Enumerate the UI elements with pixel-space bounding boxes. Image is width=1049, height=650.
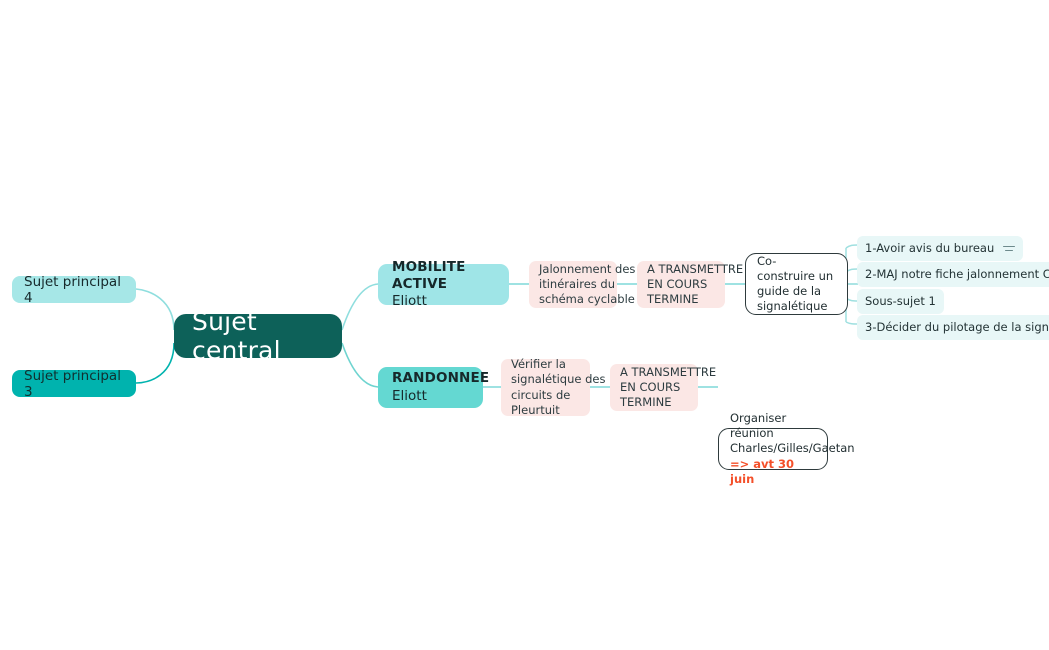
edge-central-to-randonnee: [342, 343, 378, 387]
status-note-randonnee[interactable]: A TRANSMETTRE EN COURS TERMINE: [610, 364, 698, 411]
branch-owner: Eliott: [392, 388, 469, 405]
central-node[interactable]: Sujet central: [174, 314, 342, 358]
subtopic-label: Sous-sujet 1: [865, 294, 936, 308]
task-note-verifier-signaletique[interactable]: Vérifier la signalétique des circuits de…: [501, 359, 590, 416]
edge-central-to-mobilite: [342, 284, 378, 330]
subtopic-chip-4[interactable]: 3-Décider du pilotage de la signa infra: [857, 315, 1049, 340]
task-line: signalétique des: [511, 372, 580, 387]
task-line: Jalonnement des: [539, 262, 607, 277]
action-line: guide de la: [757, 284, 836, 299]
status-note-mobilite[interactable]: A TRANSMETTRE EN COURS TERMINE: [637, 261, 725, 308]
notes-icon: [1003, 246, 1015, 251]
action-line: construire un: [757, 269, 836, 284]
status-line: A TRANSMETTRE: [647, 262, 715, 277]
action-line: signalétique: [757, 299, 836, 314]
mindmap-canvas: Sujet central Sujet principal 4 Sujet pr…: [0, 0, 1049, 650]
subtopic-label: 2-MAJ notre fiche jalonnement CCCE: [865, 267, 1049, 281]
status-line: EN COURS: [647, 277, 715, 292]
action-note-co-construire[interactable]: Co- construire un guide de la signalétiq…: [745, 253, 848, 315]
subtopic-label: 1-Avoir avis du bureau: [865, 241, 994, 255]
main-topic-label: Sujet principal 3: [24, 368, 124, 400]
main-topic-sujet-principal-3[interactable]: Sujet principal 3: [12, 370, 136, 397]
branch-head-mobilite-active[interactable]: MOBILITE ACTIVE Eliott: [378, 264, 509, 305]
subtopic-label: 3-Décider du pilotage de la signa infra: [865, 320, 1049, 334]
branch-title: RANDONNEE: [392, 370, 469, 387]
main-topic-sujet-principal-4[interactable]: Sujet principal 4: [12, 276, 136, 303]
branch-owner: Eliott: [392, 293, 495, 310]
task-line: Vérifier la: [511, 357, 580, 372]
task-line: circuits de: [511, 388, 580, 403]
status-line: A TRANSMETTRE: [620, 365, 688, 380]
status-line: EN COURS: [620, 380, 688, 395]
task-line: schéma cyclable: [539, 292, 607, 307]
action-line: Organiser réunion: [730, 411, 816, 441]
deadline-label: => avt 30 juin: [730, 457, 816, 487]
task-note-jalonnement[interactable]: Jalonnement des itinéraires du schéma cy…: [529, 261, 617, 308]
edge-central-to-topic4: [136, 289, 174, 330]
action-line: Charles/Gilles/Gaetan: [730, 441, 816, 456]
subtopic-chip-3[interactable]: Sous-sujet 1: [857, 289, 944, 314]
action-note-organiser-reunion[interactable]: Organiser réunion Charles/Gilles/Gaetan …: [718, 428, 828, 470]
action-line: Co-: [757, 254, 836, 269]
central-node-label: Sujet central: [192, 307, 324, 365]
status-line: TERMINE: [647, 292, 715, 307]
branch-head-randonnee[interactable]: RANDONNEE Eliott: [378, 367, 483, 408]
main-topic-label: Sujet principal 4: [24, 274, 124, 306]
subtopic-chip-2[interactable]: 2-MAJ notre fiche jalonnement CCCE: [857, 262, 1049, 287]
task-line: itinéraires du: [539, 277, 607, 292]
edge-central-to-topic3: [136, 343, 174, 383]
status-line: TERMINE: [620, 395, 688, 410]
subtopic-chip-1[interactable]: 1-Avoir avis du bureau: [857, 236, 1023, 261]
task-line: Pleurtuit: [511, 403, 580, 418]
branch-title: MOBILITE ACTIVE: [392, 259, 495, 294]
